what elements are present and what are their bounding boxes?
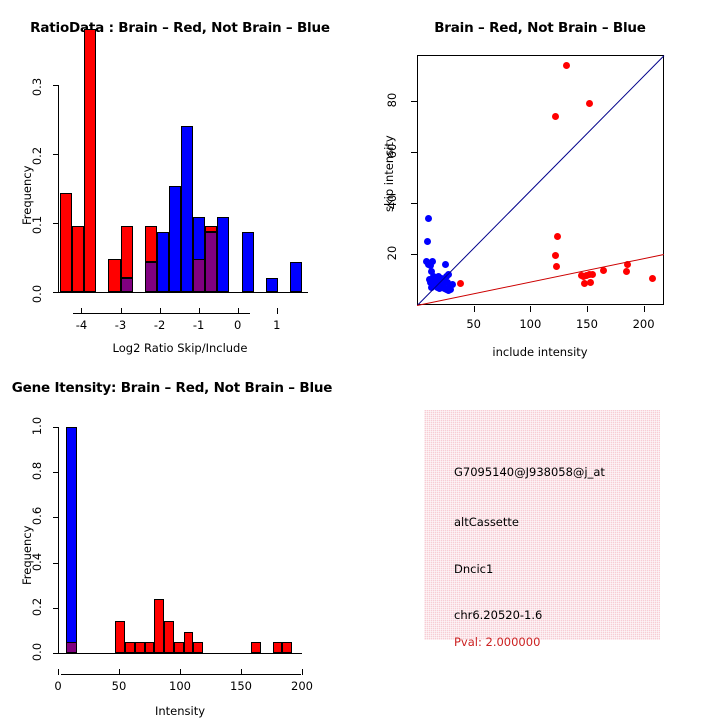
- gene-x-ticklabel: 200: [282, 679, 322, 693]
- histogram-bar-not-brain: [181, 126, 193, 292]
- gene-x-ticklabel: 150: [221, 679, 261, 693]
- histogram-bar-overlap: [205, 232, 217, 292]
- histogram-bar-brain: [60, 193, 72, 292]
- ratio-x-tick: [277, 308, 278, 314]
- histogram-bar-not-brain: [157, 232, 169, 292]
- probe-id-text: G7095140@J938058@j_at: [454, 465, 605, 479]
- histogram-bar-brain: [154, 599, 164, 653]
- histogram-bar-brain: [174, 642, 184, 653]
- histogram-bar-not-brain: [290, 262, 302, 292]
- ratio-x-tick: [238, 308, 239, 314]
- histogram-bar-brain: [115, 621, 125, 653]
- histogram-bar-brain: [145, 642, 155, 653]
- ratio-x-ticks-group: -4-3-2-101: [0, 0, 360, 360]
- histogram-bar-not-brain: [217, 217, 229, 292]
- ratio-x-ticklabel: -1: [181, 318, 217, 332]
- histogram-bar-overlap: [193, 259, 205, 292]
- gene-x-ticklabel: 50: [99, 679, 139, 693]
- pval-text: Pval: 2.000000: [454, 635, 540, 649]
- histogram-bar-brain: [184, 632, 194, 653]
- scatter-x-ticks-group: 50100150200: [360, 0, 720, 360]
- histogram-bar-brain: [121, 226, 133, 278]
- ratio-x-tick: [81, 308, 82, 314]
- histogram-bar-brain: [273, 642, 283, 653]
- ratio-x-ticklabel: 1: [259, 318, 295, 332]
- gene-x-tick: [119, 669, 120, 675]
- ratio-x-tick: [121, 308, 122, 314]
- panel-intensity-scatter: Brain – Red, Not Brain – Blue 20406080 s…: [360, 0, 720, 360]
- histogram-bar-not-brain: [266, 278, 278, 292]
- ratio-x-ticklabel: -4: [63, 318, 99, 332]
- histogram-bar-brain: [108, 259, 120, 292]
- gene-x-tick: [241, 669, 242, 675]
- gene-x-tick: [180, 669, 181, 675]
- histogram-bar-not-brain: [169, 186, 181, 292]
- histogram-bar-brain: [205, 226, 217, 232]
- event-type-text: altCassette: [454, 515, 519, 529]
- ratio-x-tick: [160, 308, 161, 314]
- probe-info-box: G7095140@J938058@j_at altCassette Dncic1…: [424, 410, 660, 640]
- scatter-x-axis-title: include intensity: [360, 345, 720, 359]
- histogram-bar-overlap: [145, 262, 157, 292]
- histogram-bar-not-brain: [66, 427, 77, 653]
- scatter-x-ticklabel: 200: [624, 317, 664, 331]
- ratio-x-axis-title: Log2 Ratio Skip/Include: [0, 341, 360, 355]
- gene-x-tick: [302, 669, 303, 675]
- histogram-bar-brain: [193, 642, 203, 653]
- gene-x-tick: [58, 669, 59, 675]
- scatter-x-ticklabel: 100: [510, 317, 550, 331]
- panel-ratio-histogram: RatioData : Brain – Red, Not Brain – Blu…: [0, 0, 360, 360]
- panel-probe-info: G7095140@J938058@j_at altCassette Dncic1…: [360, 360, 720, 720]
- figure-canvas: RatioData : Brain – Red, Not Brain – Blu…: [0, 0, 720, 720]
- scatter-x-tick: [474, 306, 475, 312]
- ratio-x-ticklabel: -2: [142, 318, 178, 332]
- histogram-bar-brain: [145, 226, 157, 261]
- histogram-bar-overlap: [66, 642, 77, 653]
- ratio-x-ticklabel: -3: [103, 318, 139, 332]
- gene-x-ticklabel: 100: [160, 679, 200, 693]
- gene-symbol-text: Dncic1: [454, 562, 493, 576]
- ratio-x-tick: [199, 308, 200, 314]
- histogram-bar-not-brain: [242, 232, 254, 292]
- histogram-bar-brain: [164, 621, 174, 653]
- gene-x-ticklabel: 0: [38, 679, 78, 693]
- ratio-x-ticklabel: 0: [220, 318, 256, 332]
- scatter-x-ticklabel: 50: [454, 317, 494, 331]
- scatter-x-ticklabel: 150: [567, 317, 607, 331]
- gene-x-axis-title: Intensity: [0, 704, 360, 718]
- gene-x-ticks-group: 050100150200: [0, 360, 360, 720]
- locus-text: chr6.20520-1.6: [454, 608, 542, 622]
- histogram-bar-brain: [125, 642, 135, 653]
- histogram-bar-brain: [251, 642, 261, 653]
- histogram-bar-brain: [84, 29, 96, 292]
- histogram-bar-brain: [282, 642, 292, 653]
- histogram-bar-brain: [72, 226, 84, 292]
- scatter-x-tick: [587, 306, 588, 312]
- panel-gene-intensity-histogram: Gene Itensity: Brain – Red, Not Brain – …: [0, 360, 360, 720]
- histogram-bar-brain: [135, 642, 145, 653]
- scatter-x-tick: [530, 306, 531, 312]
- histogram-bar-overlap: [121, 278, 133, 292]
- scatter-x-tick: [644, 306, 645, 312]
